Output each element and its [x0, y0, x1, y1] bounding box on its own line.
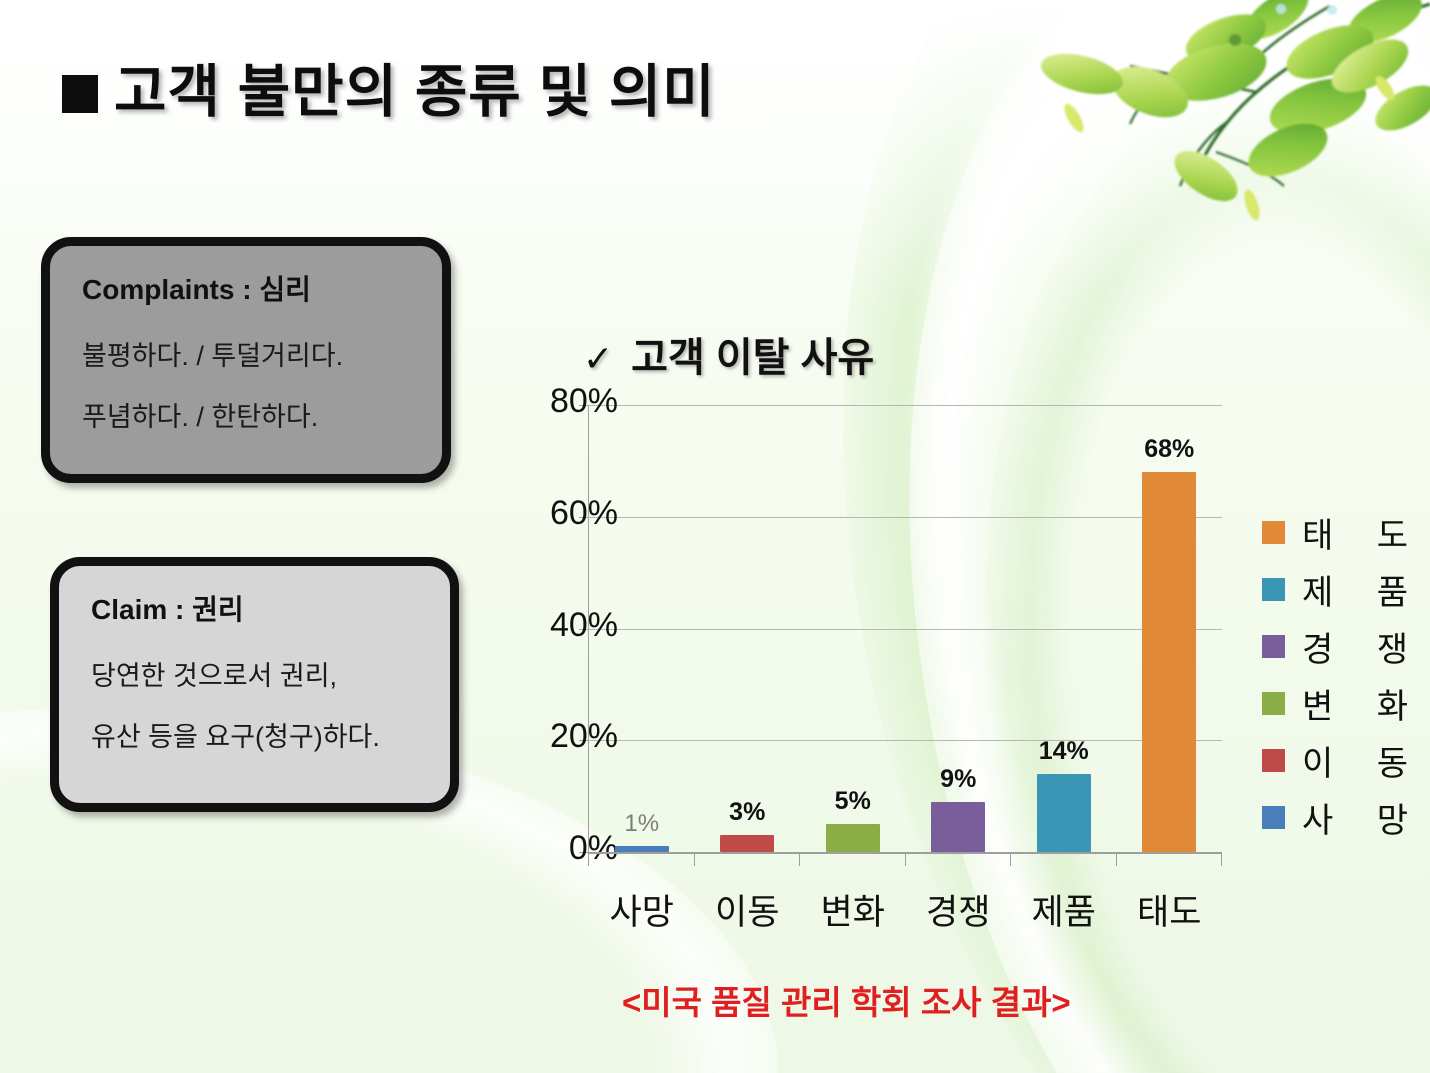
bar-value-label: 1%	[624, 810, 659, 838]
x-tick-mark	[1010, 852, 1011, 866]
callout-claim-heading: Claim : 권리	[91, 588, 424, 628]
callout-claim-line-1: 당연한 것으로서 권리,	[91, 654, 424, 693]
legend-label: 경 쟁	[1302, 622, 1425, 671]
x-axis-label: 태도	[1117, 884, 1223, 935]
bar-value-label: 5%	[835, 787, 871, 816]
callout-claim: Claim : 권리 당연한 것으로서 권리, 유산 등을 요구(청구)하다.	[50, 557, 459, 812]
legend-swatch	[1262, 692, 1285, 715]
chart-legend: 태 도제 품경 쟁변 화이 동사 망	[1262, 504, 1422, 846]
bar-group[interactable]: 14%	[1011, 405, 1117, 852]
callout-complaints-line-1: 불평하다. / 투덜거리다.	[82, 334, 416, 373]
legend-item[interactable]: 변 화	[1262, 675, 1422, 732]
bar-이동[interactable]	[720, 835, 774, 852]
bar-value-label: 9%	[940, 765, 976, 794]
x-axis-label: 경쟁	[906, 884, 1012, 935]
legend-item[interactable]: 제 품	[1262, 561, 1422, 618]
x-axis-line	[588, 852, 1222, 854]
bar-value-label: 14%	[1039, 737, 1089, 766]
bar-value-label: 3%	[729, 798, 765, 827]
bar-group[interactable]: 9%	[906, 405, 1012, 852]
legend-item[interactable]: 경 쟁	[1262, 618, 1422, 675]
callout-claim-line-2: 유산 등을 요구(청구)하다.	[91, 715, 424, 754]
x-tick-mark	[588, 852, 589, 866]
x-axis-label: 제품	[1011, 884, 1117, 935]
source-caption: <미국 품질 관리 학회 조사 결과>	[622, 976, 1071, 1024]
legend-item[interactable]: 사 망	[1262, 789, 1422, 846]
legend-label: 제 품	[1302, 565, 1425, 614]
legend-swatch	[1262, 749, 1285, 772]
x-tick-mark	[694, 852, 695, 866]
bar-value-label: 68%	[1144, 435, 1194, 464]
legend-label: 사 망	[1302, 793, 1425, 842]
slide-canvas: 고객 불만의 종류 및 의미 Complaints : 심리 불평하다. / 투…	[0, 0, 1430, 1073]
legend-swatch	[1262, 635, 1285, 658]
chart-plot-area: 0%20%40%60%80% 1%3%5%9%14%68%	[588, 405, 1222, 852]
checkmark-icon: ✓	[583, 338, 613, 379]
bar-태도[interactable]	[1142, 472, 1196, 852]
legend-label: 변 화	[1302, 679, 1425, 728]
legend-swatch	[1262, 521, 1285, 544]
x-axis-label: 변화	[800, 884, 906, 935]
callout-complaints-line-2: 푸념하다. / 한탄하다.	[82, 395, 416, 434]
x-tick-mark	[1116, 852, 1117, 866]
bar-변화[interactable]	[826, 824, 880, 852]
x-tick-mark	[799, 852, 800, 866]
x-axis-labels: 사망이동변화경쟁제품태도	[589, 884, 1222, 935]
chart-bars: 1%3%5%9%14%68%	[589, 405, 1222, 852]
page-title: 고객 불만의 종류 및 의미	[62, 46, 716, 128]
callout-complaints: Complaints : 심리 불평하다. / 투덜거리다. 푸념하다. / 한…	[41, 237, 451, 483]
x-tick-mark	[1221, 852, 1222, 866]
legend-swatch	[1262, 806, 1285, 829]
x-axis-label: 이동	[695, 884, 801, 935]
bar-group[interactable]: 3%	[695, 405, 801, 852]
chart-heading-text: 고객 이탈 사유	[631, 336, 874, 380]
chart-heading: ✓고객 이탈 사유	[583, 325, 874, 383]
page-title-text: 고객 불만의 종류 및 의미	[114, 60, 716, 124]
square-bullet-icon	[62, 75, 98, 113]
x-axis-label: 사망	[589, 884, 695, 935]
legend-item[interactable]: 이 동	[1262, 732, 1422, 789]
callout-complaints-heading: Complaints : 심리	[82, 268, 416, 308]
legend-swatch	[1262, 578, 1285, 601]
legend-label: 태 도	[1302, 508, 1425, 557]
legend-label: 이 동	[1302, 736, 1425, 785]
bar-group[interactable]: 5%	[800, 405, 906, 852]
bar-group[interactable]: 68%	[1117, 405, 1223, 852]
bar-제품[interactable]	[1037, 774, 1091, 852]
bar-경쟁[interactable]	[931, 802, 985, 852]
legend-item[interactable]: 태 도	[1262, 504, 1422, 561]
bar-group[interactable]: 1%	[589, 405, 695, 852]
x-tick-mark	[905, 852, 906, 866]
